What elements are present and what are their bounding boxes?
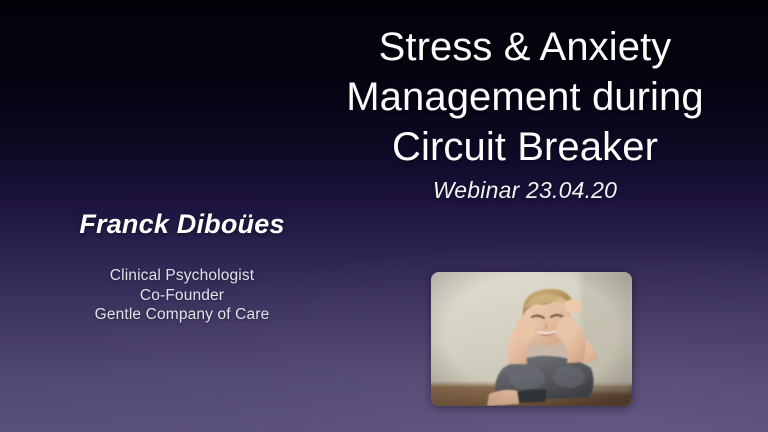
title-block: Stress & Anxiety Management during Circu… bbox=[318, 22, 732, 204]
distressed-child-illustration bbox=[431, 272, 632, 406]
title-line-3: Circuit Breaker bbox=[318, 122, 732, 172]
presentation-slide: Stress & Anxiety Management during Circu… bbox=[0, 0, 768, 432]
credential-line-2: Co-Founder bbox=[32, 286, 332, 306]
title-line-2: Management during bbox=[318, 72, 732, 122]
credential-line-3: Gentle Company of Care bbox=[32, 305, 332, 325]
credential-line-1: Clinical Psychologist bbox=[32, 266, 332, 286]
distressed-child-photo bbox=[431, 272, 632, 406]
webinar-subtitle: Webinar 23.04.20 bbox=[318, 177, 732, 204]
title-line-1: Stress & Anxiety bbox=[318, 22, 732, 72]
presenter-credentials: Clinical Psychologist Co-Founder Gentle … bbox=[32, 266, 332, 325]
presenter-name: Franck Diboües bbox=[32, 208, 332, 241]
presenter-block: Franck Diboües Clinical Psychologist Co-… bbox=[32, 208, 332, 325]
